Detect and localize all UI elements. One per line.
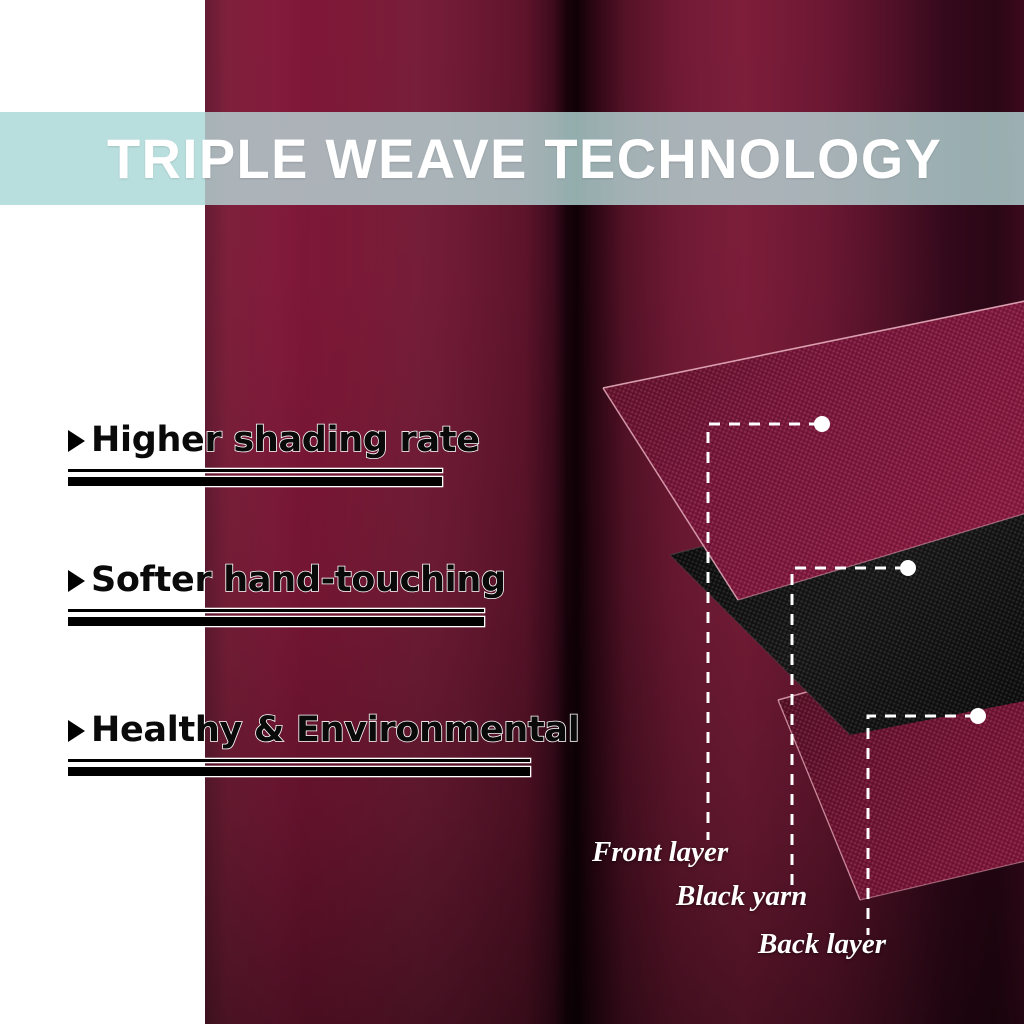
feature-item-environmental: Healthy & Environmental — [68, 710, 579, 776]
triple-weave-layer-diagram — [560, 300, 1024, 860]
feature-label: Higher shading rate — [91, 420, 480, 460]
feature-row: Softer hand-touching — [68, 560, 506, 600]
triangle-bullet-icon — [68, 720, 85, 742]
page-title: TRIPLE WEAVE TECHNOLOGY — [15, 112, 1008, 205]
callout-label-black-yarn: Black yarn — [676, 880, 807, 913]
underline-thick — [68, 477, 442, 486]
product-infographic: TRIPLE WEAVE TECHNOLOGY Higher shading r… — [0, 0, 1024, 1024]
underline-thick — [68, 617, 484, 626]
feature-label: Healthy & Environmental — [91, 710, 579, 750]
feature-underline — [68, 759, 530, 776]
callout-dot-black-yarn — [900, 560, 916, 576]
feature-item-shading: Higher shading rate — [68, 420, 480, 486]
triangle-bullet-icon — [68, 570, 85, 592]
triangle-bullet-icon — [68, 430, 85, 452]
underline-thick — [68, 767, 530, 776]
feature-item-softness: Softer hand-touching — [68, 560, 506, 626]
callout-dot-front-layer — [814, 416, 830, 432]
feature-label: Softer hand-touching — [91, 560, 506, 600]
callout-label-back-layer: Back layer — [758, 928, 886, 961]
underline-thin — [68, 469, 442, 472]
feature-underline — [68, 609, 484, 626]
callout-dot-back-layer — [970, 708, 986, 724]
callout-label-front-layer: Front layer — [592, 836, 728, 869]
feature-row: Higher shading rate — [68, 420, 480, 460]
underline-thin — [68, 609, 484, 612]
feature-row: Healthy & Environmental — [68, 710, 579, 750]
underline-thin — [68, 759, 530, 762]
feature-underline — [68, 469, 442, 486]
